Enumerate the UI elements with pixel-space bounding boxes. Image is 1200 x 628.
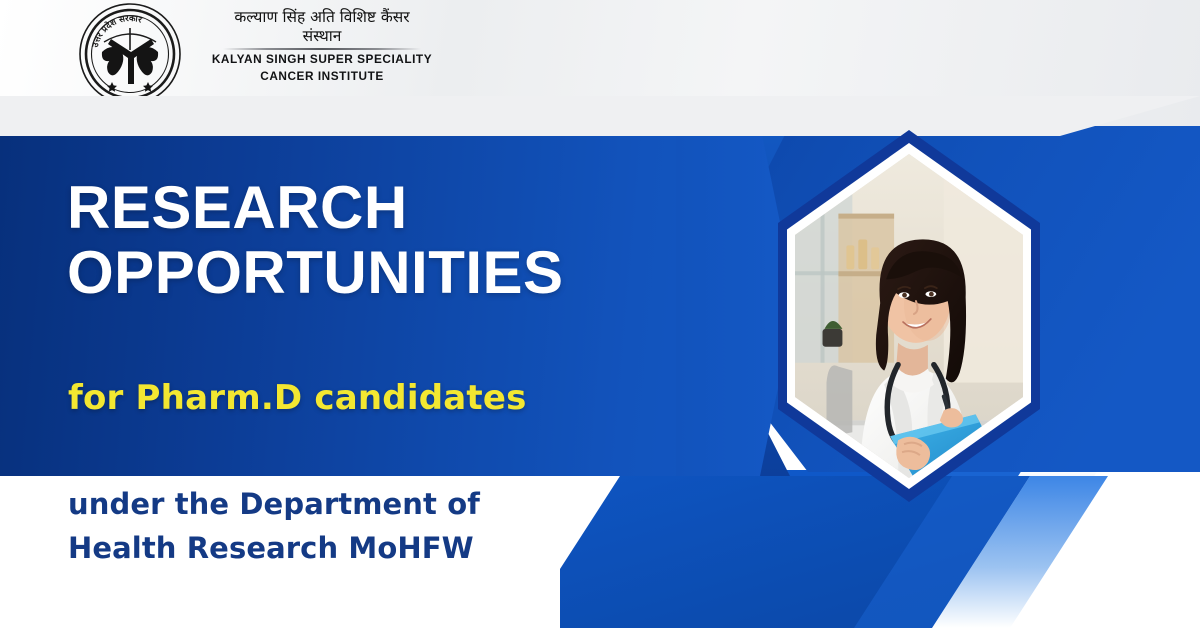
footer-line-2: Health Research MoHFW	[68, 526, 480, 570]
institute-name-english-line2: CANCER INSTITUTE	[196, 68, 448, 85]
headline-line-1: RESEARCH	[67, 176, 564, 241]
uttar-pradesh-government-emblem-icon: उत्तर प्रदेश सरकार	[78, 2, 182, 106]
doctor-photo-hexagon-frame	[778, 130, 1040, 502]
header-bar: उत्तर प्रदेश सरकार	[0, 0, 1200, 126]
institute-name-hindi-line2: संस्थान	[196, 27, 448, 46]
subtitle-pharmd: for Pharm.D candidates	[68, 378, 527, 418]
institute-name-english-line1: KALYAN SINGH SUPER SPECIALITY	[196, 51, 448, 68]
institute-name-hindi-line1: कल्याण सिंह अति विशिष्ट कैंसर	[196, 8, 448, 27]
footer-line-1: under the Department of	[68, 482, 480, 526]
headline-line-2: OPPORTUNITIES	[67, 241, 564, 306]
department-footer-text: under the Department of Health Research …	[68, 482, 480, 570]
research-opportunities-banner: उत्तर प्रदेश सरकार	[0, 0, 1200, 628]
institute-name-block: कल्याण सिंह अति विशिष्ट कैंसर संस्थान KA…	[196, 2, 448, 84]
header-identity-block: उत्तर प्रदेश सरकार	[78, 2, 448, 106]
institute-name-divider	[223, 48, 421, 50]
page-title: RESEARCH OPPORTUNITIES	[67, 176, 564, 306]
